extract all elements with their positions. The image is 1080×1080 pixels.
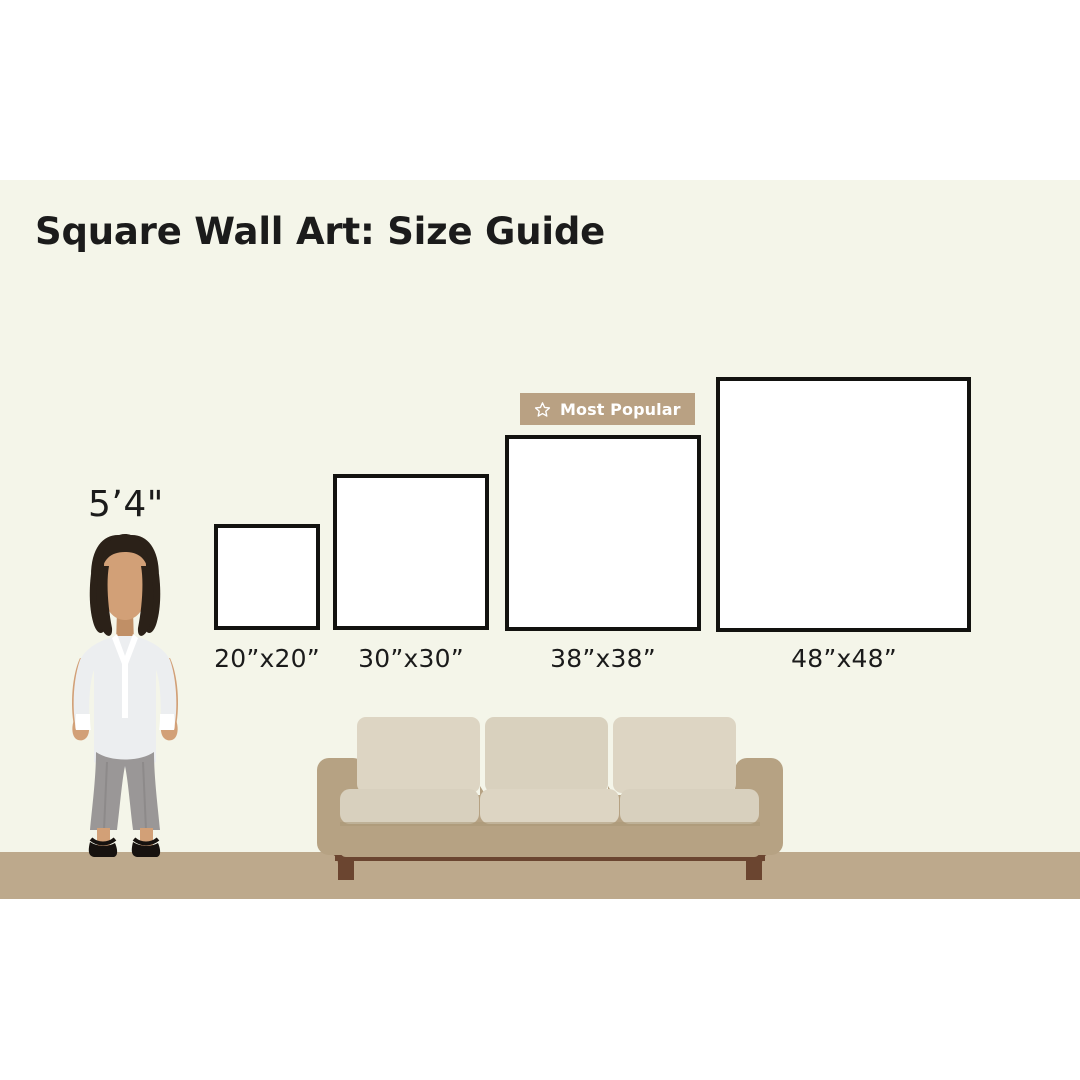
sofa-back-cushion-3 xyxy=(613,717,736,793)
person-figure xyxy=(60,530,205,870)
sofa-back-cushion-2 xyxy=(485,717,608,793)
page-title: Square Wall Art: Size Guide xyxy=(35,210,605,253)
sofa-seat-shadow xyxy=(340,822,760,826)
person-height-label: 5’4" xyxy=(88,484,164,525)
sleeve-cuff-left xyxy=(75,714,91,730)
size-guide-graphic: Square Wall Art: Size Guide 20”x20” 30”x… xyxy=(0,0,1080,1080)
blouse-placket xyxy=(122,656,128,718)
star-outline-icon xyxy=(534,401,551,418)
sleeve-cuff-right xyxy=(159,714,175,730)
size-label-30: 30”x30” xyxy=(304,644,518,673)
sofa-seat-cushion-1 xyxy=(340,789,479,824)
sofa-back-cushion-1 xyxy=(357,717,480,793)
most-popular-badge-label: Most Popular xyxy=(560,400,681,419)
size-label-38: 38”x38” xyxy=(496,644,710,673)
sofa-figure xyxy=(300,700,800,890)
size-label-48: 48”x48” xyxy=(737,644,951,673)
art-frame-48[interactable] xyxy=(716,377,971,632)
sofa-seat-cushion-2 xyxy=(480,789,619,824)
most-popular-badge[interactable]: Most Popular xyxy=(520,393,695,425)
art-frame-38[interactable] xyxy=(505,435,701,631)
art-frame-20[interactable] xyxy=(214,524,320,630)
pants xyxy=(90,752,160,830)
sofa-seat-cushion-3 xyxy=(620,789,759,824)
art-frame-30[interactable] xyxy=(333,474,489,630)
